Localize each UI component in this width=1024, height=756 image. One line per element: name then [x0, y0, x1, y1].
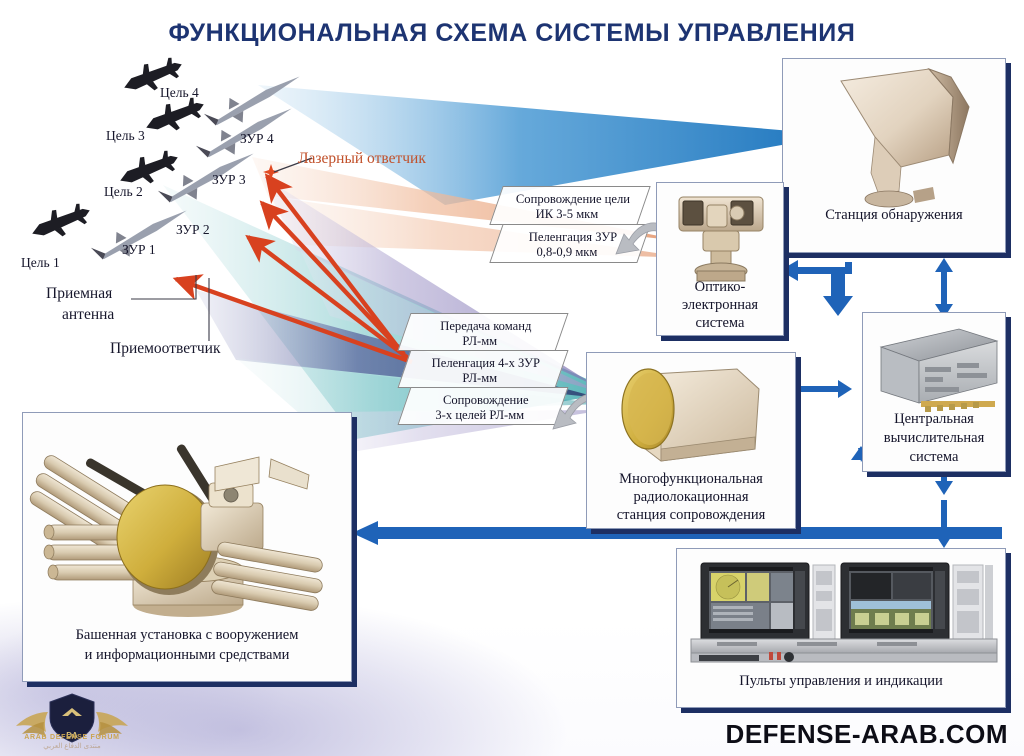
caption-central-computer-l2: вычислительная [863, 430, 1005, 447]
caption-consoles: Пульты управления и индикации [677, 673, 1005, 690]
arrow-computer-consoles-down [935, 500, 953, 548]
panel-optical-system[interactable]: Оптико- электронная система [656, 182, 784, 336]
panel-consoles[interactable]: Пульты управления и индикации [676, 548, 1006, 708]
caption-optical-system-l1: Оптико- [657, 279, 783, 296]
arrow-detection-to-computer [823, 267, 853, 316]
caption-turret-l2: и информационными средствами [23, 647, 351, 664]
logo-caption-ar: منتدى الدفاع العربي [14, 742, 130, 750]
watermark: DEFENSE-ARAB.COM [726, 719, 1008, 750]
consoles-icon [677, 553, 1007, 663]
panel-central-computer[interactable]: Центральная вычислительная система [862, 312, 1006, 472]
detection-station-antenna-icon [783, 63, 1007, 213]
caption-detection-station: Станция обнаружения [783, 207, 1005, 224]
panel-detection-station[interactable]: Станция обнаружения [782, 58, 1006, 253]
diagram-canvas: ФУНКЦИОНАЛЬНАЯ СХЕМА СИСТЕМЫ УПРАВЛЕНИЯ … [0, 0, 1024, 756]
optical-system-turret-icon [657, 187, 785, 287]
panel-tracking-radar[interactable]: Многофункциональная радиолокационная ста… [586, 352, 796, 529]
caption-tracking-radar-l2: радиолокационная [587, 489, 795, 506]
tracking-radar-icon [587, 357, 797, 477]
caption-tracking-radar-l1: Многофункциональная [587, 471, 795, 488]
turret-icon [23, 419, 353, 619]
caption-tracking-radar-l3: станция сопровождения [587, 507, 795, 524]
caption-turret-l1: Башенная установка с вооружением [23, 627, 351, 644]
caption-optical-system-l3: система [657, 315, 783, 332]
arrow-detection-computer-bidir [935, 258, 953, 318]
caption-central-computer-l1: Центральная [863, 411, 1005, 428]
caption-central-computer-l3: система [863, 449, 1005, 466]
central-computer-icon [863, 315, 1007, 417]
caption-optical-system-l2: электронная [657, 297, 783, 314]
logo-caption: ARAB DEFENSE FORUM [14, 734, 130, 741]
panel-turret[interactable]: Башенная установка с вооружением и инфор… [22, 412, 352, 682]
arab-defense-forum-logo: DA ARAB DEFENSE FORUM منتدى الدفاع العرب… [14, 692, 130, 752]
